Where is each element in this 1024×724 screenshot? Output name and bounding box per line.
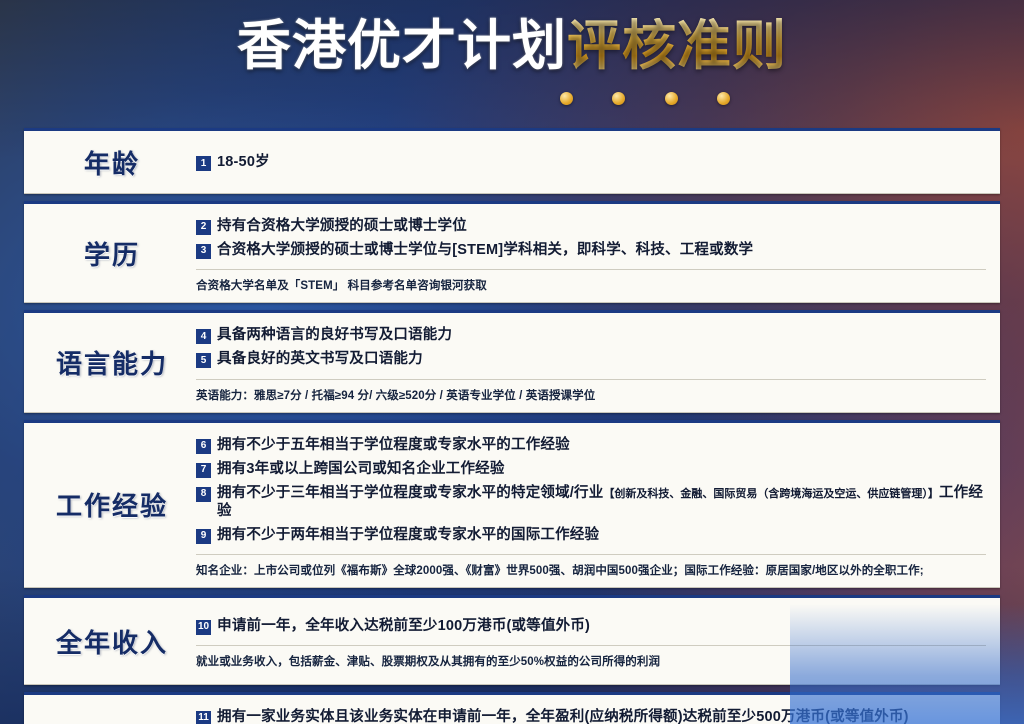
criteria-item-main-text: 拥有不少于两年相当于学位程度或专家水平的国际工作经验 [217, 527, 599, 543]
criteria-item-list: 11拥有一家业务实体且该业务实体在申请前一年，全年盈利(应纳税所得额)达税前至少… [196, 695, 1000, 724]
criteria-item: 7拥有3年或以上跨国公司或知名企业工作经验 [196, 460, 986, 478]
criteria-row: 全年收入10申请前一年，全年收入达税前至少100万港币(或等值外币)就业或业务收… [24, 595, 1000, 685]
criteria-item-text: 具备两种语言的良好书写及口语能力 [217, 326, 452, 344]
criteria-row-note: 知名企业：上市公司或位列《福布斯》全球2000强、《财富》世界500强、胡润中国… [196, 554, 986, 578]
gold-dot-icon [665, 92, 678, 105]
criteria-category-label: 语言能力 [56, 344, 168, 381]
criteria-item-main-text: 拥有一家业务实体且该业务实体在申请前一年，全年盈利(应纳税所得额)达税前至少50… [217, 709, 909, 724]
criteria-category: 全年收入 [24, 598, 196, 684]
poster-root: 香港优才计划评核准则 年龄118-50岁学历2持有合资格大学颁授的硕士或博士学位… [0, 0, 1024, 724]
item-number-badge: 6 [196, 439, 211, 454]
criteria-row: 学历2持有合资格大学颁授的硕士或博士学位3合资格大学颁授的硕士或博士学位与[ST… [24, 201, 1000, 303]
criteria-item-text: 具备良好的英文书写及口语能力 [217, 350, 423, 368]
item-number-badge: 3 [196, 244, 211, 259]
criteria-category-label: 全年收入 [56, 623, 168, 660]
criteria-item-text: 合资格大学颁授的硕士或博士学位与[STEM]学科相关，即科学、科技、工程或数学 [217, 241, 753, 259]
item-number-badge: 2 [196, 220, 211, 235]
criteria-item: 11拥有一家业务实体且该业务实体在申请前一年，全年盈利(应纳税所得额)达税前至少… [196, 708, 986, 724]
criteria-item-main-text: 18-50岁 [217, 154, 270, 170]
criteria-item-text: 持有合资格大学颁授的硕士或博士学位 [217, 217, 467, 235]
criteria-card-list: 年龄118-50岁学历2持有合资格大学颁授的硕士或博士学位3合资格大学颁授的硕士… [24, 128, 1000, 724]
criteria-item-list: 118-50岁 [196, 131, 1000, 193]
criteria-category-label: 学历 [84, 235, 140, 272]
criteria-item: 5具备良好的英文书写及口语能力 [196, 350, 986, 368]
criteria-category: 语言能力 [24, 313, 196, 411]
criteria-item: 2持有合资格大学颁授的硕士或博士学位 [196, 217, 986, 235]
criteria-item-text: 拥有不少于五年相当于学位程度或专家水平的工作经验 [217, 436, 570, 454]
criteria-item-list: 6拥有不少于五年相当于学位程度或专家水平的工作经验7拥有3年或以上跨国公司或知名… [196, 423, 1000, 588]
gold-dot-icon [717, 92, 730, 105]
criteria-item-text: 18-50岁 [217, 153, 270, 171]
criteria-row-note: 就业或业务收入，包括薪金、津贴、股票期权及从其拥有的至少50%权益的公司所得的利… [196, 645, 986, 669]
criteria-item-text: 拥有一家业务实体且该业务实体在申请前一年，全年盈利(应纳税所得额)达税前至少50… [217, 708, 909, 724]
title-dots-decoration [560, 92, 730, 105]
criteria-category: 学历 [24, 204, 196, 302]
criteria-item: 6拥有不少于五年相当于学位程度或专家水平的工作经验 [196, 436, 986, 454]
criteria-row: 年龄118-50岁 [24, 128, 1000, 194]
criteria-row-note: 英语能力：雅思≥7分 / 托福≥94 分/ 六级≥520分 / 英语专业学位 /… [196, 379, 986, 403]
gold-dot-icon [560, 92, 573, 105]
criteria-category: 业务所有权 [24, 695, 196, 724]
criteria-item-list: 4具备两种语言的良好书写及口语能力5具备良好的英文书写及口语能力英语能力：雅思≥… [196, 313, 1000, 411]
item-number-badge: 10 [196, 620, 211, 635]
criteria-item-main-text: 合资格大学颁授的硕士或博士学位与[STEM]学科相关，即科学、科技、工程或数学 [217, 242, 753, 258]
criteria-category-label: 工作经验 [56, 486, 168, 523]
criteria-row: 工作经验6拥有不少于五年相当于学位程度或专家水平的工作经验7拥有3年或以上跨国公… [24, 420, 1000, 589]
criteria-item-main-text: 申请前一年，全年收入达税前至少100万港币(或等值外币) [217, 618, 590, 634]
criteria-category: 年龄 [24, 131, 196, 193]
item-number-badge: 11 [196, 711, 211, 724]
criteria-row: 业务所有权11拥有一家业务实体且该业务实体在申请前一年，全年盈利(应纳税所得额)… [24, 692, 1000, 724]
title-white-text: 香港优才计划 [237, 18, 567, 72]
criteria-item-text: 拥有3年或以上跨国公司或知名企业工作经验 [217, 460, 505, 478]
criteria-item-main-text: 具备两种语言的良好书写及口语能力 [217, 327, 452, 343]
item-number-badge: 7 [196, 463, 211, 478]
criteria-item-text: 拥有不少于三年相当于学位程度或专家水平的特定领域/行业【创新及科技、金融、国际贸… [217, 484, 986, 520]
criteria-item-text: 拥有不少于两年相当于学位程度或专家水平的国际工作经验 [217, 526, 599, 544]
criteria-row-note: 合资格大学名单及「STEM」 科目参考名单咨询银河获取 [196, 269, 986, 293]
criteria-item-main-text: 拥有不少于三年相当于学位程度或专家水平的特定领域/行业 [217, 485, 603, 501]
criteria-item: 3合资格大学颁授的硕士或博士学位与[STEM]学科相关，即科学、科技、工程或数学 [196, 241, 986, 259]
item-number-badge: 4 [196, 329, 211, 344]
criteria-item: 9拥有不少于两年相当于学位程度或专家水平的国际工作经验 [196, 526, 986, 544]
criteria-item-text: 申请前一年，全年收入达税前至少100万港币(或等值外币) [217, 617, 590, 635]
criteria-item-main-text: 拥有3年或以上跨国公司或知名企业工作经验 [217, 461, 505, 477]
criteria-item: 4具备两种语言的良好书写及口语能力 [196, 326, 986, 344]
criteria-item-main-text: 具备良好的英文书写及口语能力 [217, 351, 423, 367]
criteria-item: 10申请前一年，全年收入达税前至少100万港币(或等值外币) [196, 617, 986, 635]
criteria-item: 118-50岁 [196, 153, 986, 171]
criteria-item-main-text: 拥有不少于五年相当于学位程度或专家水平的工作经验 [217, 437, 570, 453]
criteria-item-list: 2持有合资格大学颁授的硕士或博士学位3合资格大学颁授的硕士或博士学位与[STEM… [196, 204, 1000, 302]
criteria-row: 语言能力4具备两种语言的良好书写及口语能力5具备良好的英文书写及口语能力英语能力… [24, 310, 1000, 412]
gold-dot-icon [612, 92, 625, 105]
criteria-category: 工作经验 [24, 423, 196, 588]
title-gold-text: 评核准则 [567, 18, 787, 72]
criteria-item-list: 10申请前一年，全年收入达税前至少100万港币(或等值外币)就业或业务收入，包括… [196, 598, 1000, 684]
criteria-category-label: 年龄 [84, 144, 140, 181]
item-number-badge: 9 [196, 529, 211, 544]
item-number-badge: 5 [196, 353, 211, 368]
item-number-badge: 8 [196, 487, 211, 502]
criteria-item-main-text: 持有合资格大学颁授的硕士或博士学位 [217, 218, 467, 234]
criteria-item: 8拥有不少于三年相当于学位程度或专家水平的特定领域/行业【创新及科技、金融、国际… [196, 484, 986, 520]
item-number-badge: 1 [196, 156, 211, 171]
poster-title: 香港优才计划评核准则 [0, 18, 1024, 72]
criteria-item-subnote-text: 【创新及科技、金融、国际贸易（含跨境海运及空运、供应链管理）】 [603, 488, 939, 500]
